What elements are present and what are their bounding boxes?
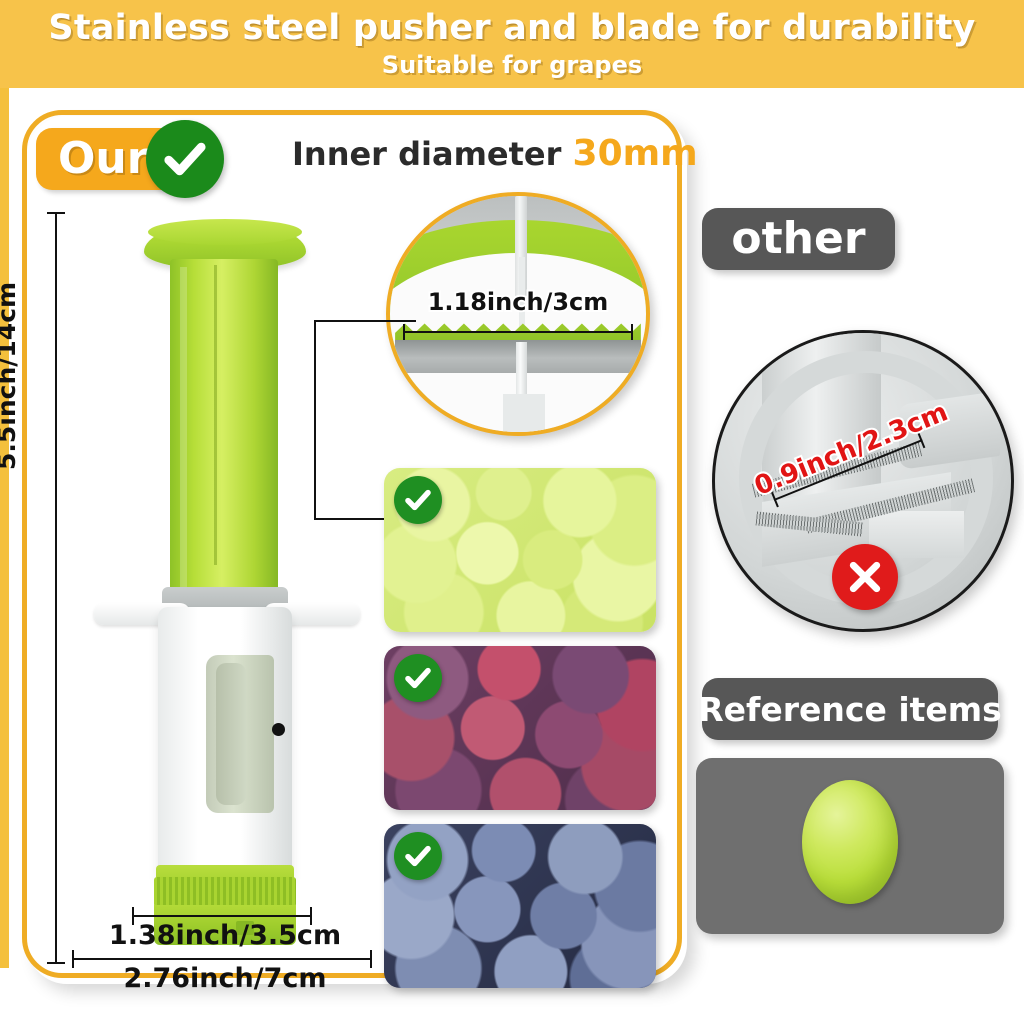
plunger-rod-seam [214,265,217,565]
inner-diameter-value: 30mm [573,133,698,174]
reference-items-panel [696,758,1004,934]
height-dimension-line [55,212,57,964]
left-accent-stripe [0,88,9,968]
check-icon [394,654,442,702]
x-circle-icon [832,544,898,610]
inner-diameter-label: Inner diameter [292,135,561,173]
outer-width-dimension-line [72,958,372,960]
thumbnail-green-grapes [384,468,656,632]
check-circle-icon [146,120,224,198]
inner-diameter-heading: Inner diameter 30mm [292,136,698,172]
outer-width-dimension-label: 2.76inch/7cm [60,965,390,992]
inset-dimension-line [403,331,633,333]
infographic-canvas: Stainless steel pusher and blade for dur… [0,0,1024,1024]
thumbnail-red-grapes [384,646,656,810]
inner-width-dimension-line [132,915,312,917]
inner-width-dimension-label: 1.38inch/3.5cm [60,922,390,949]
plunger-cap-top [148,219,302,245]
thumbnail-blue-grapes [384,824,656,988]
base-knurled-ring [154,877,296,907]
other-badge: other [702,208,895,270]
body-window-insert [216,663,246,805]
other-badge-label: other [731,217,865,261]
reference-items-label: Reference items [698,693,1002,726]
blade-closeup-inset: 1.18inch/3cm [386,192,650,436]
header-banner: Stainless steel pusher and blade for dur… [0,0,1024,88]
reference-items-badge: Reference items [702,678,998,740]
check-icon [394,476,442,524]
reference-grape [802,780,898,904]
check-icon [394,832,442,880]
callout-anchor-dot [272,723,285,736]
plunger-rod-highlight [180,267,187,605]
inset-foot [503,394,545,432]
our-badge-label: Our [58,137,148,181]
inset-measurement-label: 1.18inch/3cm [390,290,646,314]
height-dimension-label: 5.5inch/14cm [0,282,19,470]
header-subtitle: Suitable for grapes [382,53,642,77]
header-title: Stainless steel pusher and blade for dur… [48,11,975,46]
